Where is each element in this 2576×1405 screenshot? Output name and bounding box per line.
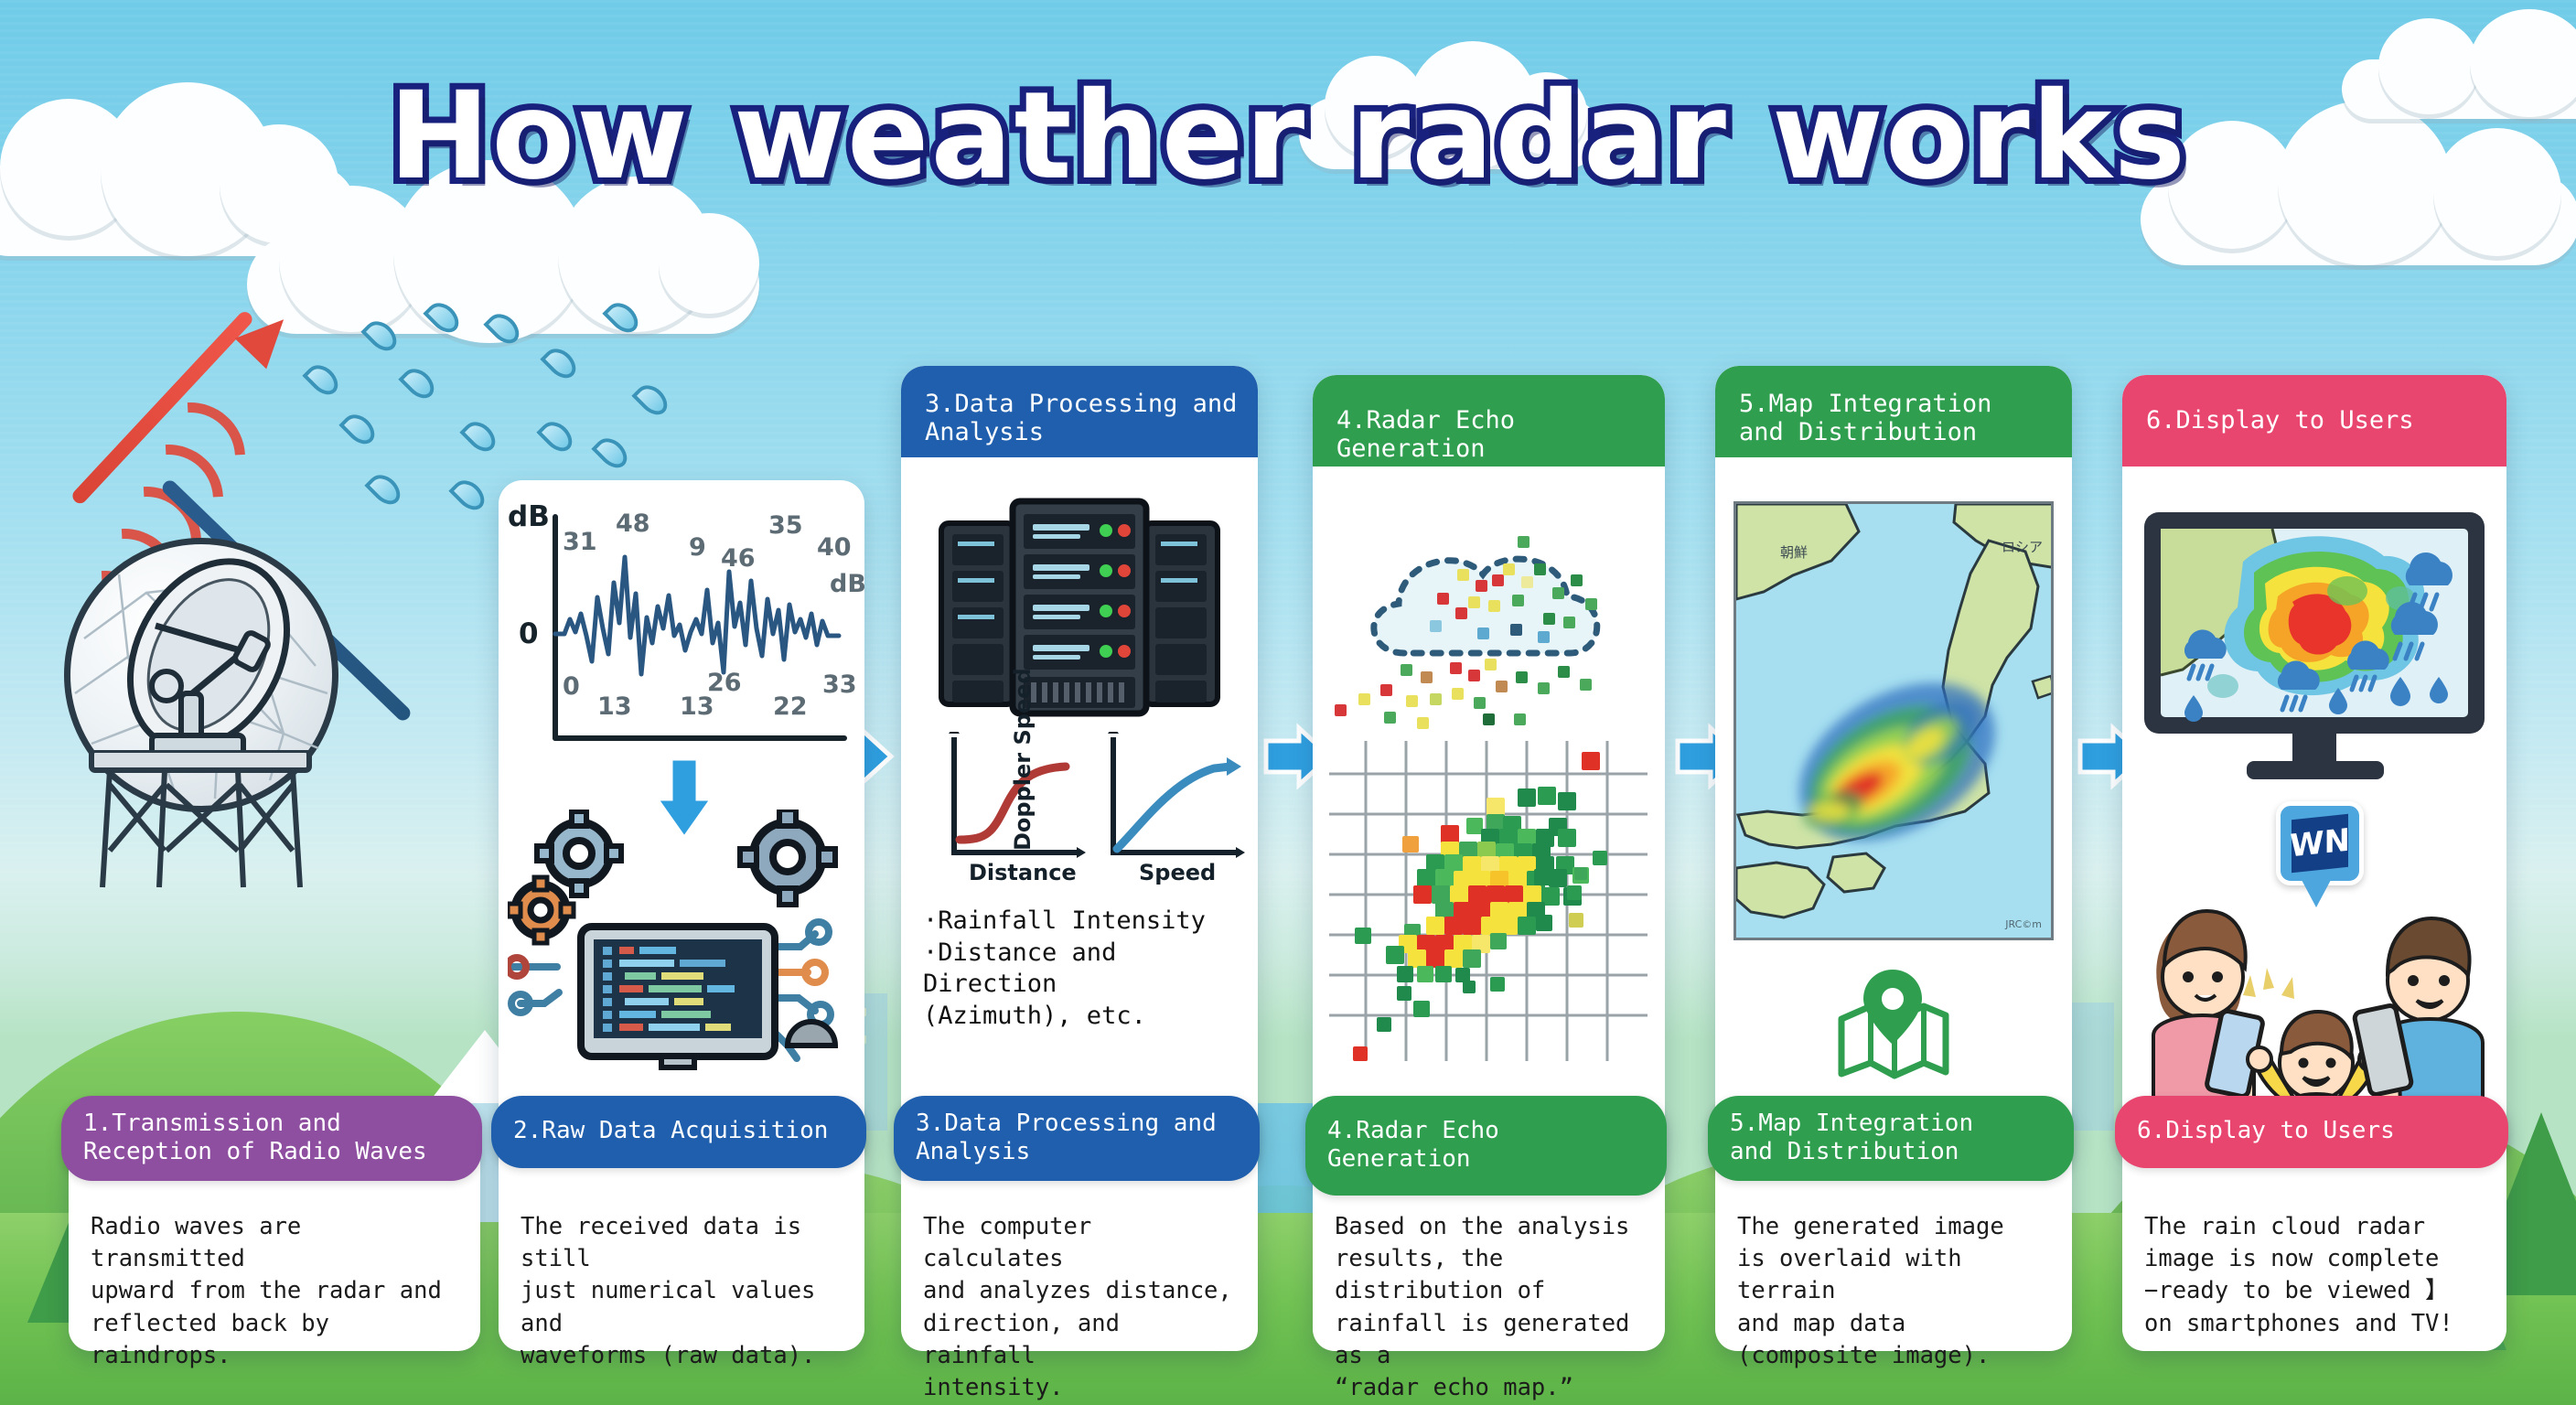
card-1-label: 1.Transmission and Reception of Radio Wa… <box>69 1109 480 1351</box>
page-title: How weather radar works <box>0 66 2576 207</box>
card-6-visual: 6.Display to Users <box>2122 375 2506 1157</box>
map-pin-icon <box>1834 970 1953 1089</box>
sparkle-icon <box>2243 968 2294 999</box>
card-4-header: 4.Radar Echo Generation <box>1313 375 1665 467</box>
computer-illustration <box>508 810 855 1075</box>
card-2-description: The received data is still just numerica… <box>521 1211 850 1372</box>
card-6-pill: 6.Display to Users <box>2115 1096 2508 1168</box>
card-3-bullet-list: ·Rainfall Intensity ·Distance and Direct… <box>923 906 1250 1032</box>
card-5-visual: 5.Map Integration and Distribution <box>1715 366 2072 1157</box>
raindrop <box>483 307 524 349</box>
map-attribution: JRC©m <box>2005 918 2042 930</box>
radar-dome <box>64 538 338 812</box>
raw-waveform-chart: dB 0 31 48 9 46 35 40 dB 0 13 13 26 22 3… <box>499 499 864 764</box>
card-6-label: 6.Display to Users The rain cloud radar … <box>2122 1109 2506 1351</box>
raindrop <box>423 296 464 338</box>
card-4-pill: 4.Radar Echo Generation <box>1305 1096 1667 1196</box>
card-1-pill: 1.Transmission and Reception of Radio Wa… <box>61 1096 482 1181</box>
raindrop <box>631 379 672 420</box>
radar-echo-grid <box>1329 741 1648 1061</box>
card-4-visual: 4.Radar Echo Generation <box>1313 375 1665 1157</box>
card-4-description: Based on the analysis results, the distr… <box>1335 1211 1650 1404</box>
card-5-label: 5.Map Integration and Distribution The g… <box>1715 1109 2072 1351</box>
japan-radar-map: 朝鮮 ロシア JRC©m <box>1733 501 2054 940</box>
radar-scene <box>37 274 549 933</box>
card-2-visual: dB 0 31 48 9 46 35 40 dB 0 13 13 26 22 3… <box>499 480 864 1157</box>
raindrop <box>448 474 489 515</box>
card-5-description: The generated image is overlaid with ter… <box>1737 1211 2057 1372</box>
card-5-header: 5.Map Integration and Distribution <box>1715 366 2072 457</box>
card-6-header: 6.Display to Users <box>2122 375 2506 467</box>
raindrop <box>459 415 500 456</box>
pixel-cloud-illustration <box>1322 509 1660 737</box>
radar-tower-icon <box>64 750 338 915</box>
card-6-description: The rain cloud radar image is now comple… <box>2144 1211 2492 1340</box>
mini-chart-doppler: Doppler Speed Speed <box>1077 732 1250 887</box>
card-4-label: 4.Radar Echo Generation Based on the ana… <box>1313 1109 1665 1351</box>
card-2-label: 2.Raw Data Acquisition The received data… <box>499 1109 864 1351</box>
raindrop <box>536 415 577 456</box>
card-1-description: Radio waves are transmitted upward from … <box>91 1211 466 1372</box>
card-3-pill: 3.Data Processing and Analysis <box>894 1096 1260 1181</box>
card-3-header: 3.Data Processing and Analysis <box>901 366 1258 457</box>
card-5-pill: 5.Map Integration and Distribution <box>1708 1096 2074 1181</box>
raindrop <box>540 342 581 383</box>
card-3-description: The computer calculates and analyzes dis… <box>923 1211 1243 1404</box>
raindrop <box>591 432 632 473</box>
mini-chart-y-label: Doppler Speed <box>963 668 1082 851</box>
map-label: ロシア <box>2002 537 2043 556</box>
map-label: 朝鮮 <box>1780 542 1808 562</box>
television-illustration <box>2135 507 2494 790</box>
infographic-canvas: How weather radar works <box>0 0 2576 1405</box>
card-2-pill: 2.Raw Data Acquisition <box>491 1096 866 1168</box>
card-3-label: 3.Data Processing and Analysis The compu… <box>901 1109 1258 1351</box>
wn-logo-text: WN <box>2292 814 2348 874</box>
weathernews-logo-bubble: WN <box>2276 801 2364 885</box>
card-3-visual: 3.Data Processing and Analysis <box>901 366 1258 1157</box>
